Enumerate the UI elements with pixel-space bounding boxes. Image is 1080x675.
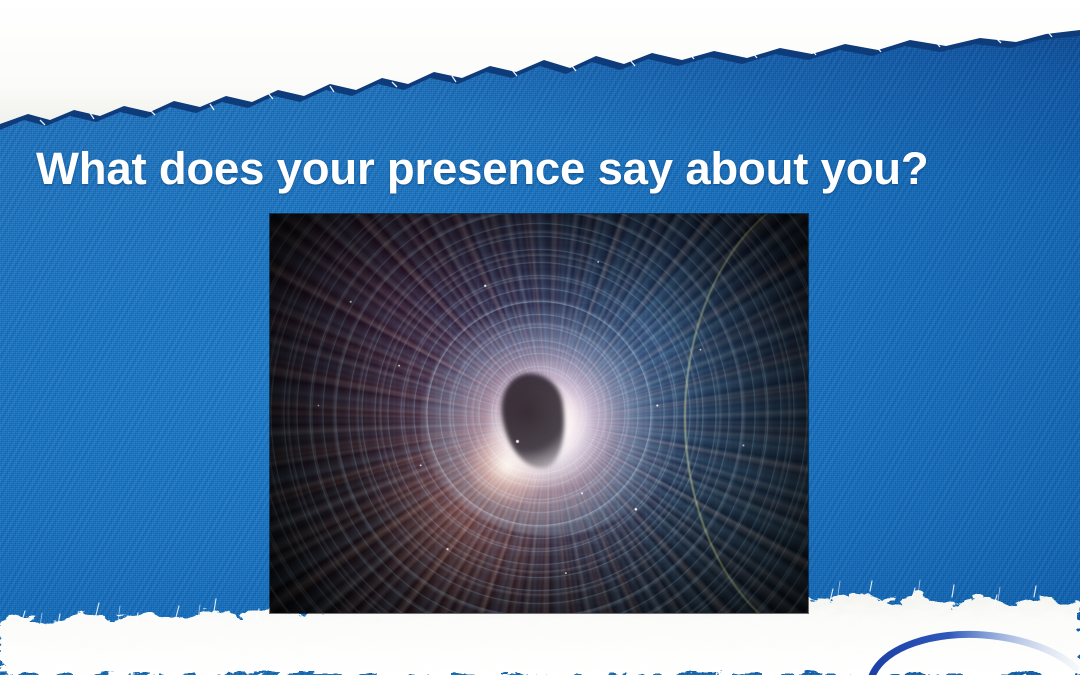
cosmic-burst-image	[270, 214, 808, 613]
image-vignette	[270, 214, 808, 613]
slide-title: What does your presence say about you?	[36, 140, 1080, 198]
presentation-slide: What does your presence say about you?	[0, 0, 1080, 675]
